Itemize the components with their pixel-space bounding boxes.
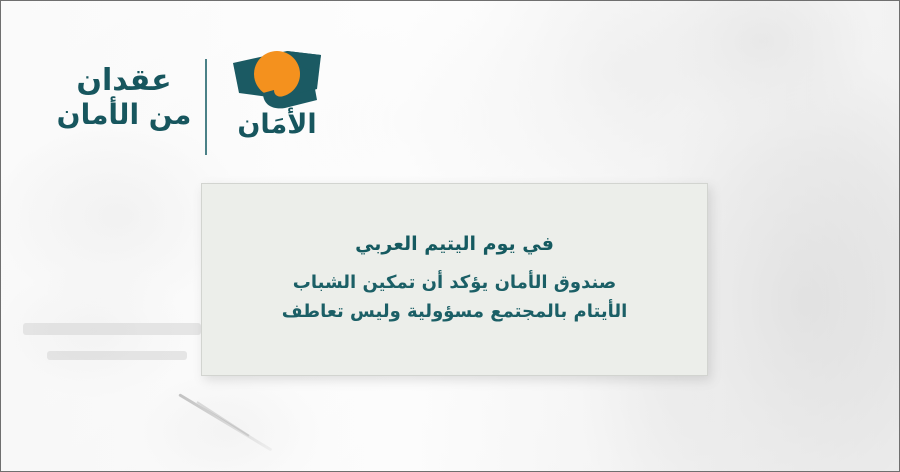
background-shelf-shape-secondary xyxy=(47,351,187,360)
poster-canvas: عقدان من الأمان الأمَان في يوم اليتيم ال… xyxy=(0,0,900,472)
message-panel: في يوم اليتيم العربي صندوق الأمان يؤكد أ… xyxy=(201,183,708,376)
brand-slogan: عقدان من الأمان xyxy=(49,63,199,131)
background-shelf-shape xyxy=(23,323,201,335)
brand-wordmark: الأمَان xyxy=(225,109,329,140)
panel-headline: في يوم اليتيم العربي xyxy=(355,233,554,255)
panel-body-line-2: الأيتام بالمجتمع مسؤولية وليس تعاطف xyxy=(282,298,628,326)
brand-slogan-line-2: من الأمان xyxy=(49,98,199,131)
vertical-divider-icon xyxy=(205,59,207,155)
logo-lockup: عقدان من الأمان الأمَان xyxy=(49,49,329,161)
aman-shield-sun-logo-icon xyxy=(225,49,329,161)
panel-body-line-1: صندوق الأمان يؤكد أن تمكين الشباب xyxy=(293,269,616,297)
brand-slogan-line-1: عقدان xyxy=(49,63,199,98)
